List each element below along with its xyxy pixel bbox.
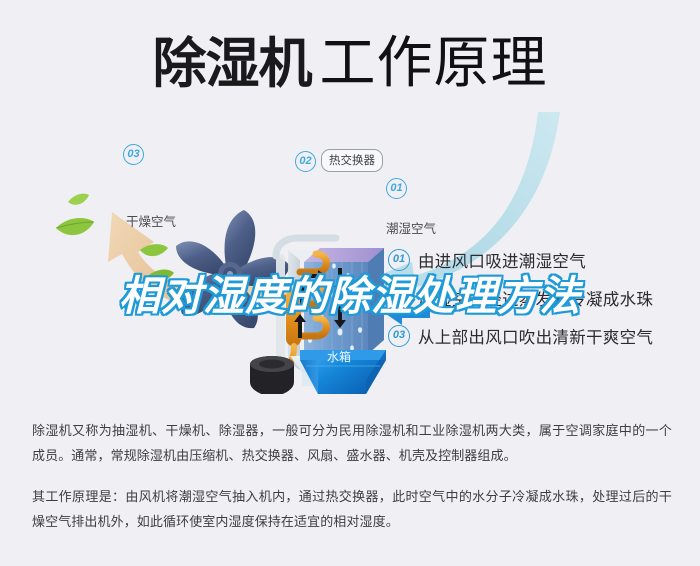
page-title: 除湿机工作原理 <box>0 18 700 99</box>
diagram-badge-01: 01 <box>386 178 407 199</box>
overlay-headline: 相对湿度的除湿处理方法 <box>0 262 700 322</box>
label-dry-air: 干燥空气 <box>126 211 176 230</box>
label-water-tank: 水箱 <box>327 348 351 365</box>
list-item: 03 从上部出风口吹出清新干爽空气 <box>388 319 688 353</box>
step-number-03: 03 <box>388 325 410 347</box>
label-humid-air: 潮湿空气 <box>386 218 436 237</box>
page-title-primary: 除湿机 <box>153 34 312 94</box>
diagram-badge-02: 02 <box>295 151 316 172</box>
paragraph-1: 除湿机又称为抽湿机、干燥机、除湿器，一般可分为民用除湿机和工业除湿机两大类，属于… <box>32 418 672 468</box>
step-text-03: 从上部出风口吹出清新干爽空气 <box>418 324 653 348</box>
callout-heat-exchanger: 热交换器 <box>321 149 383 172</box>
paragraph-2: 其工作原理是：由风机将潮湿空气抽入机内，通过热交换器，此时空气中的水分子冷凝成水… <box>32 484 672 534</box>
page-title-secondary: 工作原理 <box>320 31 548 94</box>
diagram-badge-03: 03 <box>123 144 144 165</box>
infographic-page: 除湿机工作原理 <box>0 0 700 566</box>
body-copy: 除湿机又称为抽湿机、干燥机、除湿器，一般可分为民用除湿机和工业除湿机两大类，属于… <box>32 418 672 550</box>
compressor <box>250 356 294 394</box>
